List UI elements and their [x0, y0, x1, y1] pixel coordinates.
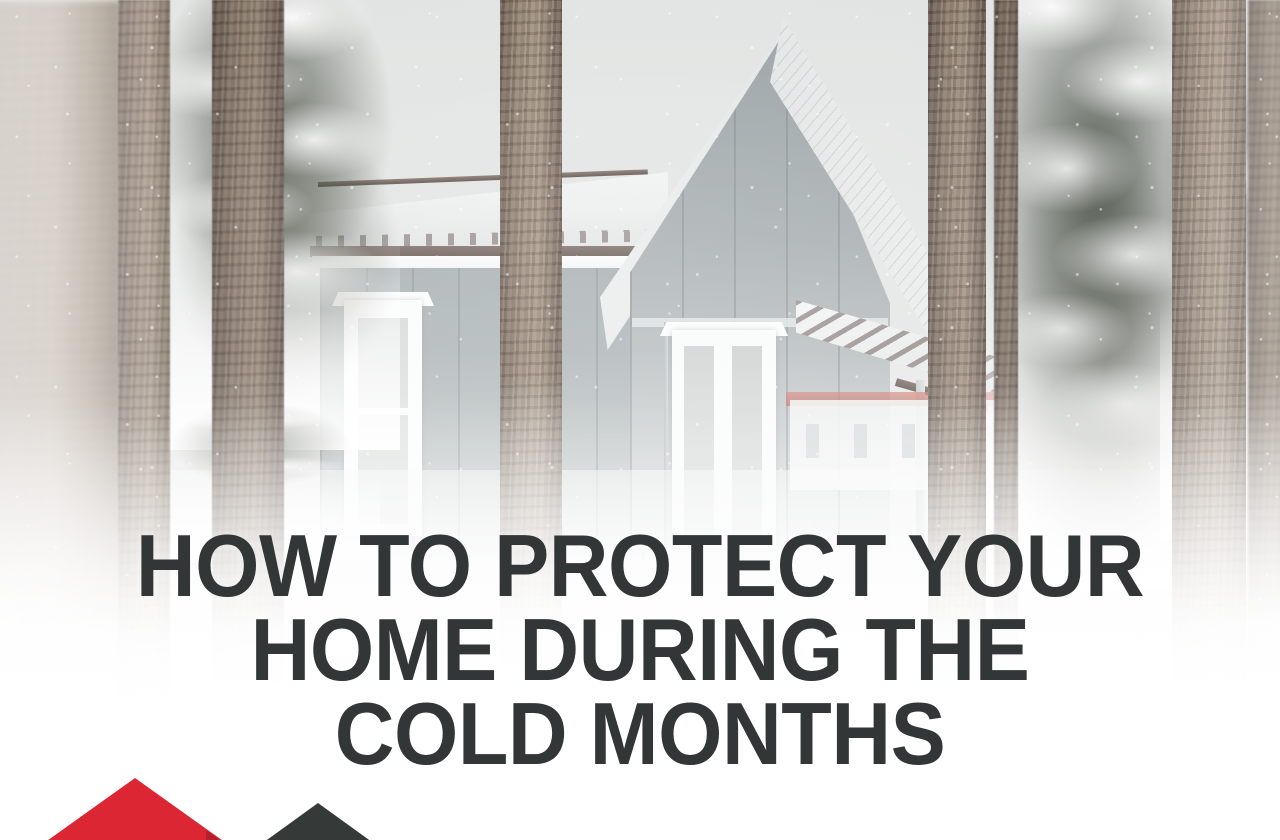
mountain-logo[interactable] [0, 750, 430, 840]
page-title: HOW TO PROTECT YOUR HOME DURING THE COLD… [0, 524, 1280, 776]
title-line-1: HOW TO PROTECT YOUR [38, 524, 1241, 608]
hero-banner: HOW TO PROTECT YOUR HOME DURING THE COLD… [0, 0, 1280, 840]
red-peak-shape [0, 778, 275, 840]
dark-peak-shape [206, 803, 430, 840]
peak-overlap-shape [206, 830, 275, 840]
title-line-2: HOME DURING THE [38, 608, 1241, 692]
